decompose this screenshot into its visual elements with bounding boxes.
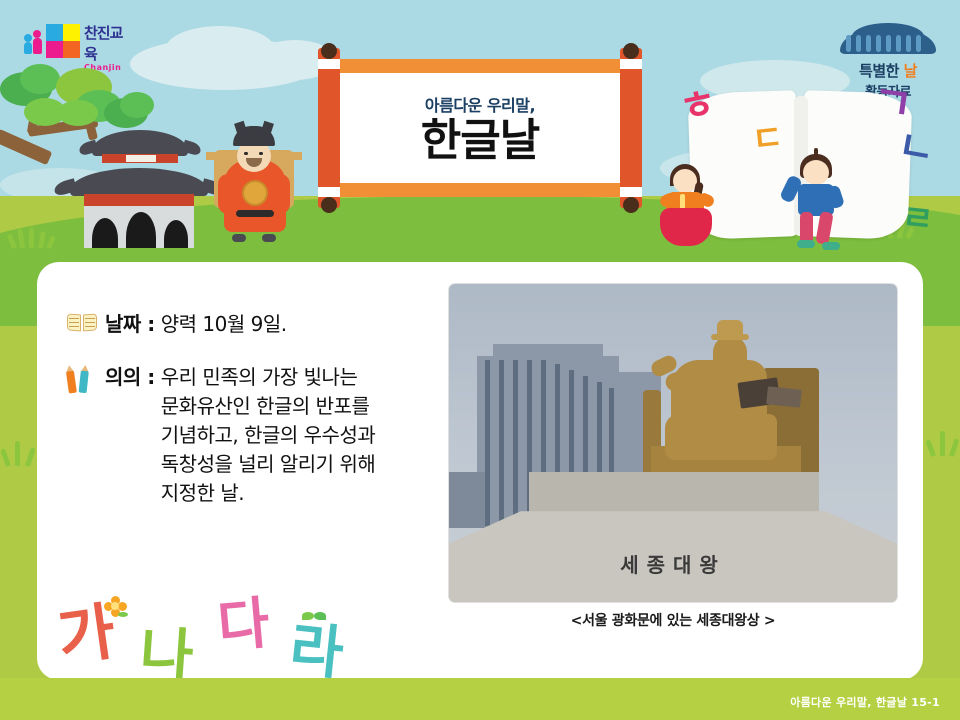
banner-knob-icon <box>321 43 337 59</box>
pedestal-upper <box>529 472 819 516</box>
hangul-letter-nieun: ㄴ <box>895 125 938 171</box>
open-book-illustration: ㅎ ㄷ ㄱ ㄴ ㄹ <box>690 92 940 252</box>
photo-caption: <서울 광화문에 있는 세종대왕상 > <box>449 610 897 630</box>
info-row-meaning: 의의 : 우리 민족의 가장 빛나는 문화유산인 한글의 반포를 기념하고, 한… <box>65 363 445 508</box>
hanok-roof-icon <box>830 22 946 58</box>
banner-knob-icon <box>623 197 639 213</box>
badge-line1-accent: 날 <box>904 62 917 80</box>
banner-post-left <box>318 48 340 208</box>
sejong-statue-photo: 세종대왕 <box>449 284 897 602</box>
banner-face: 아름다운 우리말, 한글날 <box>334 73 626 183</box>
meaning-line: 지정한 날. <box>161 479 375 508</box>
sprout-icon <box>302 610 326 624</box>
hangul-letter-digeut: ㄷ <box>750 120 785 157</box>
king-shoe <box>262 234 276 242</box>
banner-title: 한글날 <box>421 118 539 164</box>
pencils-icon <box>65 363 105 389</box>
photo-block: 세종대왕 <서울 광화문에 있는 세종대왕상 > <box>449 284 897 636</box>
meaning-line: 기념하고, 한글의 우수성과 <box>161 421 375 450</box>
info-row-meaning-body: 의의 : 우리 민족의 가장 빛나는 문화유산인 한글의 반포를 기념하고, 한… <box>105 363 445 508</box>
upper-roof <box>92 130 188 156</box>
banner-bar-bottom <box>334 183 626 197</box>
people-icon <box>24 28 44 54</box>
royal-belt <box>236 210 274 217</box>
meaning-line: 독창성을 널리 알리기 위해 <box>161 450 375 479</box>
brand-logo: 찬진교육 Chanjin Edu <box>24 20 134 62</box>
info-row-date-body: 날짜 : 양력 10월 9일. <box>105 310 445 339</box>
king-sejong-cartoon <box>206 118 302 246</box>
grass-tuft-icon <box>930 430 960 456</box>
girl-hanbok-illustration <box>660 164 722 250</box>
decor-syllable-na: 나 <box>138 624 195 686</box>
book-icon <box>65 310 105 336</box>
grass-tuft-icon <box>10 228 54 248</box>
lower-eave-band <box>84 194 194 206</box>
boy-hanbok-illustration <box>792 152 850 250</box>
king-shoe <box>232 234 246 242</box>
pedestal-inscription: 세종대왕 <box>449 549 897 578</box>
logo-squares-icon <box>46 24 80 58</box>
meaning-text: 우리 민족의 가장 빛나는 문화유산인 한글의 반포를 기념하고, 한글의 우수… <box>161 363 375 508</box>
throne-arm <box>206 152 220 160</box>
meaning-line: 문화유산인 한글의 반포를 <box>161 392 375 421</box>
banner-knob-icon <box>623 43 639 59</box>
info-list: 날짜 : 양력 10월 9일. 의의 : <box>65 310 445 532</box>
king-sejong-statue <box>635 318 825 484</box>
banner-knob-icon <box>321 197 337 213</box>
footer-text: 아름다운 우리말, 한글날 15-1 <box>790 694 940 710</box>
decor-syllable-ra: 라 <box>287 619 346 682</box>
flower-icon <box>104 596 126 618</box>
throne-arm <box>288 152 302 160</box>
hangul-letter-rieul: ㄹ <box>900 200 935 237</box>
decor-syllable-da: 다 <box>216 596 272 656</box>
date-label: 날짜 : <box>105 310 155 339</box>
lower-roof <box>70 168 208 196</box>
gwanghwamun-gate-illustration <box>62 124 214 246</box>
meaning-label: 의의 : <box>105 363 155 392</box>
info-row-date: 날짜 : 양력 10월 9일. <box>65 310 445 339</box>
banner-bar-top <box>334 59 626 73</box>
slide-root: 찬진교육 Chanjin Edu 특별한 날 활동자료 <box>0 0 960 720</box>
title-banner: 아름다운 우리말, 한글날 <box>318 48 642 208</box>
hangul-letter-hieut: ㅎ <box>676 83 720 130</box>
grass-tuft-icon <box>4 440 40 466</box>
date-value: 양력 10월 9일. <box>161 310 287 339</box>
meaning-line: 우리 민족의 가장 빛나는 <box>161 363 375 392</box>
banner-post-right <box>620 48 642 208</box>
gate-plaque <box>126 155 156 162</box>
logo-korean-name: 찬진교육 <box>84 22 134 64</box>
upper-eave-band <box>102 154 178 163</box>
gate-stone-base <box>84 206 194 248</box>
banner-subtitle: 아름다운 우리말, <box>425 92 535 116</box>
hangul-letter-giyeok: ㄱ <box>869 79 915 128</box>
dragon-medallion <box>242 180 268 206</box>
